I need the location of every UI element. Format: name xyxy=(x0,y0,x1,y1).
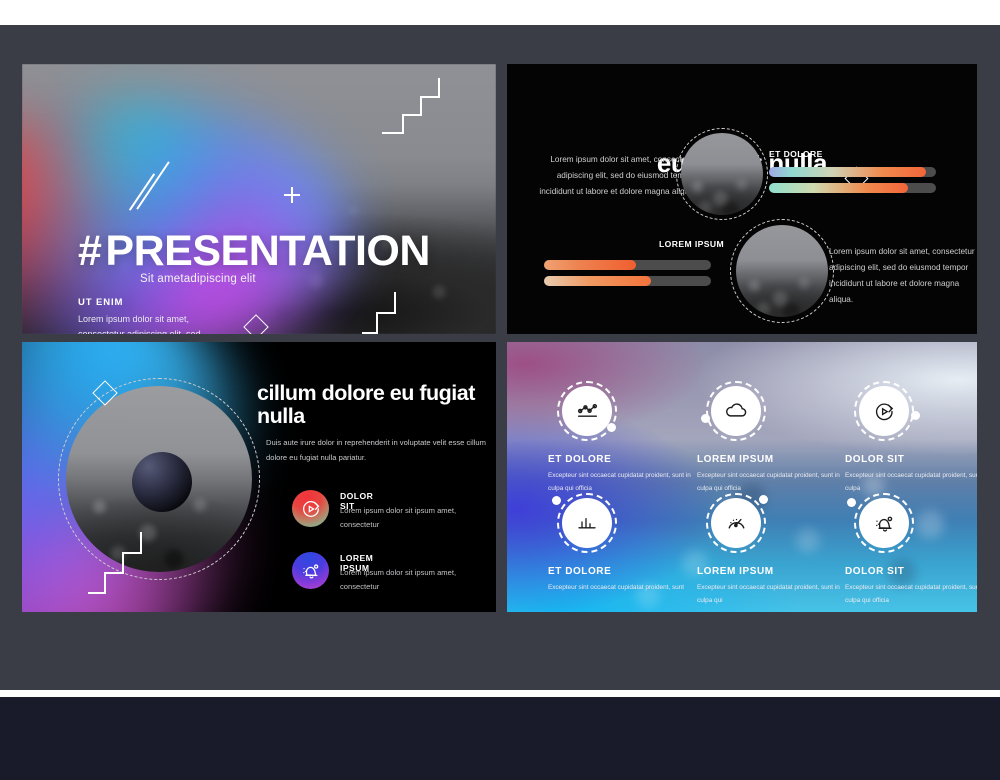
slide2-label-top: ET DOLORE xyxy=(769,149,823,159)
play-refresh-icon xyxy=(292,490,329,527)
slide1-body-text: Lorem ipsum dolor sit amet, consectetur … xyxy=(78,312,203,334)
slide-icon-grid[interactable]: ET DOLORE Excepteur sint occaecat cupida… xyxy=(507,342,977,612)
accent-dot xyxy=(552,496,561,505)
grid-item-body: Excepteur sint occaecat cupidatat proide… xyxy=(845,470,977,496)
grid-item-title: ET DOLORE xyxy=(548,566,611,577)
play-refresh-icon xyxy=(859,386,909,436)
accent-dot xyxy=(911,411,920,420)
analytics-scatter-icon xyxy=(562,386,612,436)
cloud-icon xyxy=(711,386,761,436)
slide2-photo-circle-bottom xyxy=(736,225,828,317)
grid-item-body: Excepteur sint occaecat cupidatat proide… xyxy=(697,582,847,608)
slide3-title: cillum dolore eu fugiat nulla xyxy=(257,382,496,427)
progress-fill xyxy=(769,183,908,193)
hash-symbol: # xyxy=(78,227,101,275)
plus-icon xyxy=(291,187,293,203)
slide1-title: #PRESENTATION xyxy=(78,227,430,276)
slide1-subtitle: Sit ametadipiscing elit xyxy=(140,273,256,285)
grid-item-title: ET DOLORE xyxy=(548,454,611,465)
poster-canvas: #PRESENTATION Sit ametadipiscing elit UT… xyxy=(0,0,1000,780)
grid-item-title: DOLOR SIT xyxy=(845,454,904,465)
progress-fill xyxy=(544,276,651,286)
grid-item-body: Excepteur sint occaecat cupidatat proide… xyxy=(845,582,977,608)
slide2-label-bottom: LOREM IPSUM xyxy=(659,239,724,249)
slide2-text-right: Lorem ipsum dolor sit amet, consectetur … xyxy=(829,244,977,308)
grid-item-title: LOREM IPSUM xyxy=(697,454,774,465)
slide3-inner-sphere xyxy=(132,452,192,512)
accent-dot xyxy=(607,423,616,432)
speedometer-icon xyxy=(711,498,761,548)
slide-stats[interactable]: eu fugiat nulla Lorem ipsum dolor sit am… xyxy=(507,64,977,334)
accent-dot xyxy=(759,495,768,504)
strapline: EASY TO USE AND EDIT VECTOR PRECISION AN… xyxy=(0,625,1000,690)
grid-item-title: DOLOR SIT xyxy=(845,566,904,577)
grid-item-title: LOREM IPSUM xyxy=(697,566,774,577)
grid-item-body: Excepteur sint occaecat cupidatat proide… xyxy=(697,470,847,496)
slide1-kicker: UT ENIM xyxy=(78,297,123,308)
feature-body: Lorem ipsum dolor sit ipsum amet, consec… xyxy=(340,504,470,533)
bell-notification-icon xyxy=(292,552,329,589)
progress-track xyxy=(769,167,936,177)
progress-fill xyxy=(769,167,926,177)
slide2-text-left: Lorem ipsum dolor sit amet, consectetur … xyxy=(539,152,696,200)
slide-title[interactable]: #PRESENTATION Sit ametadipiscing elit UT… xyxy=(22,64,496,334)
bell-notification-icon xyxy=(859,498,909,548)
progress-track xyxy=(769,183,936,193)
watermark-bar: VectorStock® VectorStock.com/43050971 xyxy=(0,697,1000,780)
progress-track xyxy=(544,276,711,286)
progress-fill xyxy=(544,260,636,270)
slide-features[interactable]: cillum dolore eu fugiat nulla Duis aute … xyxy=(22,342,496,612)
slide1-title-text: PRESENTATION xyxy=(105,227,429,275)
slide3-body-text: Duis aute irure dolor in reprehenderit i… xyxy=(266,436,494,466)
feature-body: Lorem ipsum dolor sit ipsum amet, consec… xyxy=(340,566,470,595)
accent-dot xyxy=(701,414,710,423)
bar-chart-icon xyxy=(562,498,612,548)
grid-item-body: Excepteur sint occaecat cupidatat proide… xyxy=(548,470,698,496)
slide2-photo-circle-top xyxy=(681,133,763,215)
grid-item-body: Excepteur sint occaecat cupidatat proide… xyxy=(548,582,698,595)
progress-track xyxy=(544,260,711,270)
accent-dot xyxy=(847,498,856,507)
